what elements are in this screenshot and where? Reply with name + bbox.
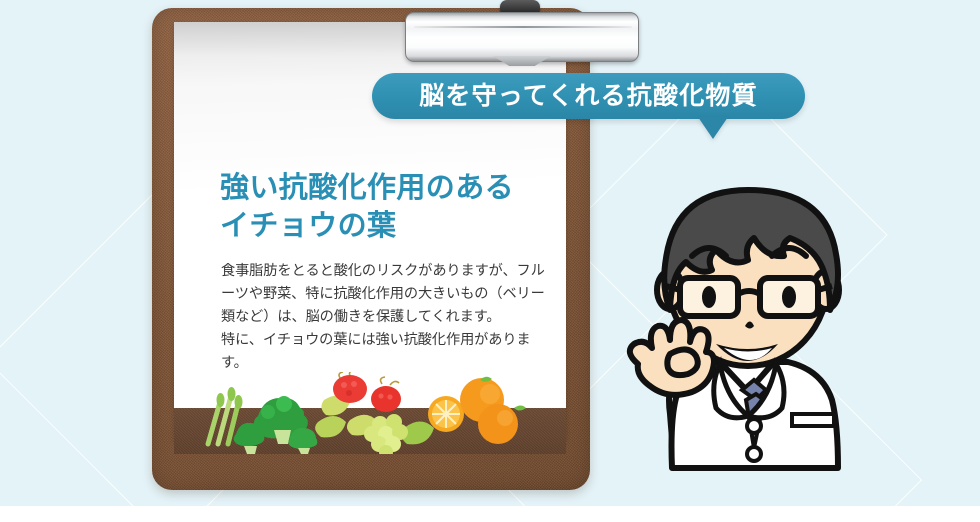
coat-pocket-icon	[792, 414, 834, 426]
illustration-banner: 強い抗酸化作用のあるイチョウの葉 食事脂肪をとると酸化のリスクがありますが、フル…	[0, 0, 980, 522]
clip-notch-icon	[493, 56, 551, 66]
raspberry-icon	[333, 372, 367, 403]
strawberry-icon	[371, 377, 401, 412]
fruits-and-vegetables-illustration	[174, 372, 566, 454]
speech-bubble: 脳を守ってくれる抗酸化物質	[372, 73, 805, 119]
clip-bar-icon	[405, 12, 639, 62]
page-title: 強い抗酸化作用のあるイチョウの葉	[220, 170, 550, 245]
ok-hand-icon	[630, 320, 714, 395]
clipboard-clip	[405, 6, 639, 72]
clip-highlight	[414, 26, 632, 28]
body-text: 食事脂肪をとると酸化のリスクがありますが、フルーツや野菜、特に抗酸化作用の大きい…	[221, 260, 546, 375]
orange-slice-icon	[428, 396, 464, 432]
doctor-character	[608, 168, 908, 488]
coat-button-icon	[747, 447, 761, 461]
orange-icon	[460, 377, 526, 444]
coat-button-icon	[747, 419, 761, 433]
speech-bubble-tail-icon	[698, 117, 728, 139]
speech-bubble-text: 脳を守ってくれる抗酸化物質	[419, 84, 758, 109]
